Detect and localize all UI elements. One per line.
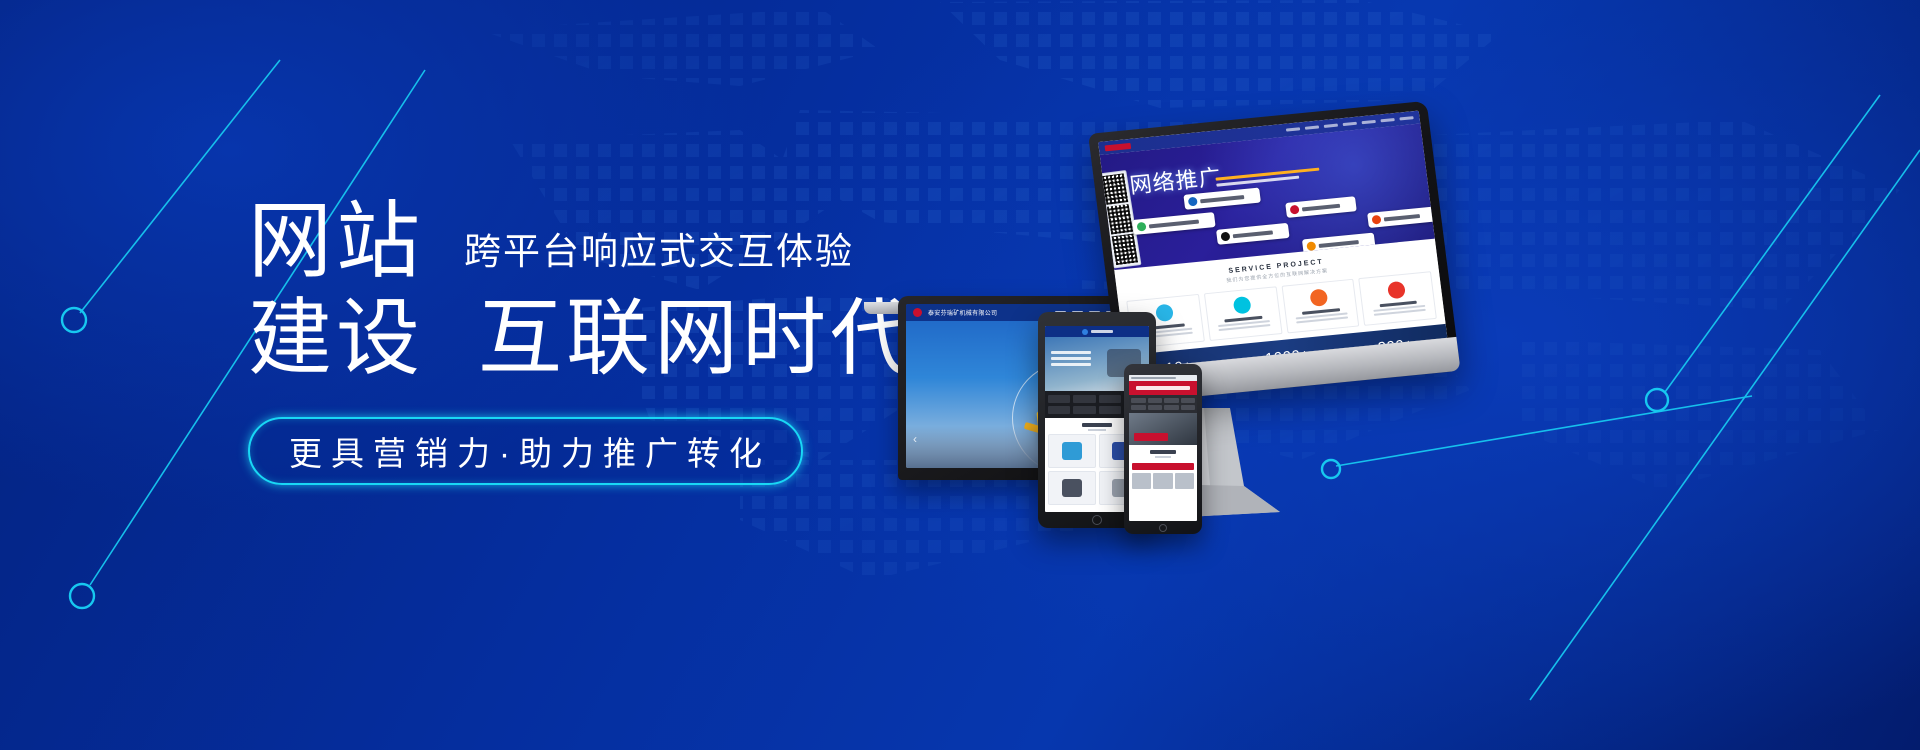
product-card[interactable] — [1048, 471, 1096, 505]
headline-line-1: 网站 — [248, 196, 424, 287]
tablet-site-header — [1045, 326, 1149, 337]
phone-screen — [1129, 375, 1197, 521]
logo-icon — [1082, 329, 1088, 335]
product-tile[interactable] — [1153, 473, 1172, 489]
tagline-badge-text: 更具营销力·助力推广转化 — [280, 427, 771, 475]
phone-product-tiles — [1129, 470, 1197, 492]
nav-item[interactable] — [1343, 122, 1357, 126]
phone-hero-image — [1129, 413, 1197, 445]
nav-item[interactable] — [1324, 124, 1338, 128]
headline-row-2: 建设 互联网时代 — [248, 293, 868, 384]
nav-item[interactable] — [1073, 406, 1095, 414]
nav-item[interactable] — [1164, 405, 1179, 410]
company-logo-icon — [913, 308, 922, 317]
nav-item[interactable] — [1048, 395, 1070, 403]
platform-chip[interactable] — [1285, 196, 1357, 218]
nav-item[interactable] — [1164, 398, 1179, 403]
platform-chip[interactable] — [1216, 223, 1290, 245]
nav-item[interactable] — [1131, 398, 1146, 403]
device-mockup-cluster: 网络推广 — [890, 120, 1850, 620]
hero-banner: 网站 跨平台响应式交互体验 建设 互联网时代 更具营销力·助力推广转化 — [0, 0, 1920, 750]
nav-item[interactable] — [1099, 395, 1121, 403]
platform-chip[interactable] — [1367, 206, 1435, 228]
hero-copy: 网站 跨平台响应式交互体验 建设 互联网时代 更具营销力·助力推广转化 — [248, 196, 868, 485]
phone-promo-banner — [1129, 381, 1197, 395]
product-tile[interactable] — [1132, 473, 1151, 489]
phone-section-heading — [1129, 445, 1197, 463]
nav-item[interactable] — [1181, 398, 1196, 403]
nav-item[interactable] — [1399, 116, 1413, 120]
product-tile[interactable] — [1175, 473, 1194, 489]
hero-subtitle: 跨平台响应式交互体验 — [464, 221, 854, 287]
headline-row-1: 网站 跨平台响应式交互体验 — [248, 196, 868, 287]
nav-item[interactable] — [1380, 118, 1394, 122]
headline-right: 互联网时代 — [478, 293, 918, 384]
phone — [1124, 364, 1202, 534]
nav-item[interactable] — [1181, 405, 1196, 410]
promo-subtitle-lines — [1215, 168, 1320, 190]
company-name: 泰安芬瑞矿机械有限公司 — [928, 308, 997, 317]
nav-item[interactable] — [1286, 127, 1300, 131]
nav-item[interactable] — [1048, 406, 1070, 414]
carousel-prev-icon[interactable]: ‹ — [913, 432, 917, 446]
product-card[interactable] — [1048, 434, 1096, 468]
tagline-badge: 更具营销力·助力推广转化 — [248, 417, 803, 485]
phone-cta-bar[interactable] — [1132, 463, 1194, 470]
nav-item[interactable] — [1148, 398, 1163, 403]
nav-item[interactable] — [1131, 405, 1146, 410]
home-button-icon[interactable] — [1092, 515, 1102, 525]
nav-item[interactable] — [1099, 406, 1121, 414]
nav-item[interactable] — [1362, 120, 1376, 124]
platform-chip[interactable] — [1132, 212, 1216, 235]
phone-nav-grid — [1129, 395, 1197, 413]
nav-item[interactable] — [1148, 405, 1163, 410]
service-card[interactable] — [1281, 279, 1359, 334]
home-button-icon[interactable] — [1159, 524, 1167, 532]
hero-text-lines — [1051, 351, 1091, 369]
service-card[interactable] — [1204, 286, 1282, 341]
nav-item[interactable] — [1073, 395, 1095, 403]
nav-item[interactable] — [1305, 125, 1319, 129]
service-card[interactable] — [1358, 271, 1436, 326]
company-name-bar — [1091, 330, 1113, 333]
headline-line-2: 建设 — [248, 293, 424, 384]
site-logo-icon — [1105, 142, 1132, 150]
